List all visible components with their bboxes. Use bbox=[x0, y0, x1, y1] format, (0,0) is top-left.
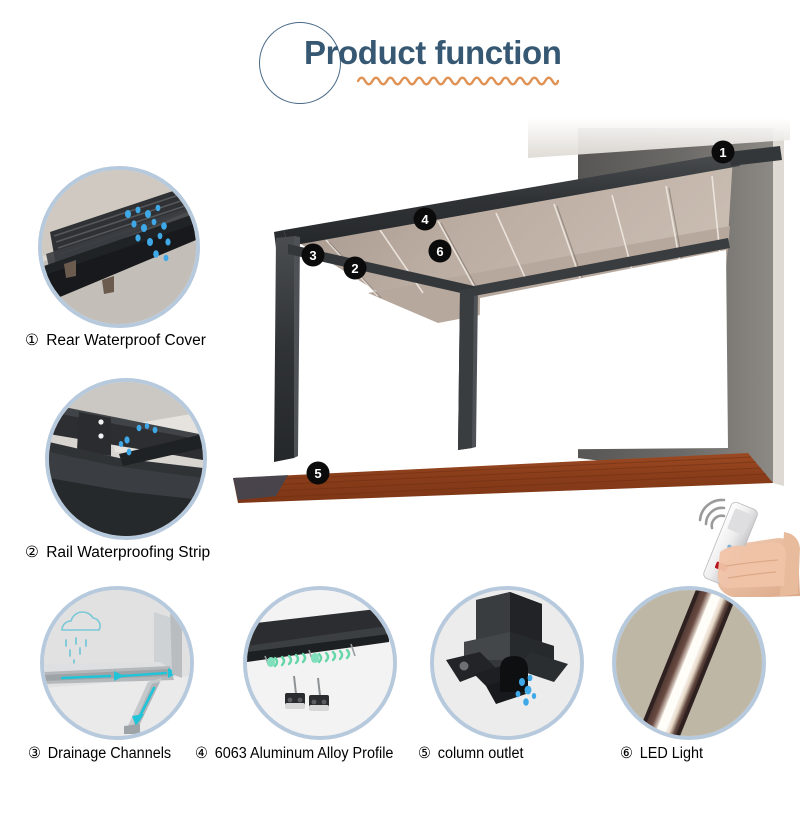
callout-4: 4 bbox=[414, 208, 436, 230]
wifi-signal-icon bbox=[700, 500, 724, 528]
page-header: Product function bbox=[0, 0, 800, 120]
feature-image-drainage-channels bbox=[40, 586, 194, 740]
feature-image-rear-waterproof-cover bbox=[38, 166, 200, 328]
page-title: Product function bbox=[304, 34, 562, 72]
feature-number-1: ① bbox=[25, 332, 39, 349]
feature-image-aluminum-alloy-profile bbox=[243, 586, 397, 740]
callout-5: 5 bbox=[307, 462, 329, 484]
feature-label-rear-waterproof-cover: ① Rear Waterproof Cover bbox=[25, 331, 206, 350]
feature-column-outlet: ⑤ column outlet bbox=[430, 586, 584, 776]
feature-number-5: ⑤ bbox=[418, 745, 431, 762]
feature-label-text-3: Drainage Channels bbox=[48, 745, 171, 762]
wavy-underline-icon bbox=[357, 72, 559, 90]
callout-3: 3 bbox=[302, 244, 324, 266]
callout-1: 1 bbox=[712, 141, 734, 163]
feature-led-light: ⑥ LED Light bbox=[612, 586, 766, 776]
pergola-illustration bbox=[228, 118, 790, 503]
feature-number-3: ③ bbox=[28, 745, 41, 762]
feature-label-text-4: 6063 Aluminum Alloy Profile bbox=[215, 745, 394, 762]
feature-label-rail-waterproofing-strip: ② Rail Waterproofing Strip bbox=[25, 543, 210, 562]
feature-label-drainage-channels: ③ Drainage Channels bbox=[28, 744, 171, 763]
feature-label-text-6: LED Light bbox=[640, 745, 703, 762]
feature-number-4: ④ bbox=[195, 745, 208, 762]
callout-6: 6 bbox=[429, 240, 451, 262]
feature-label-column-outlet: ⑤ column outlet bbox=[418, 744, 523, 763]
feature-label-text-1: Rear Waterproof Cover bbox=[46, 332, 206, 349]
feature-number-6: ⑥ bbox=[620, 745, 633, 762]
feature-image-column-outlet bbox=[430, 586, 584, 740]
feature-label-led-light: ⑥ LED Light bbox=[620, 744, 703, 763]
feature-label-text-5: column outlet bbox=[438, 745, 524, 762]
feature-rail-waterproofing-strip: ② Rail Waterproofing Strip bbox=[45, 378, 207, 578]
feature-number-2: ② bbox=[25, 544, 39, 561]
feature-label-text-2: Rail Waterproofing Strip bbox=[46, 544, 210, 561]
feature-rear-waterproof-cover: ① Rear Waterproof Cover bbox=[38, 166, 200, 366]
callout-2: 2 bbox=[344, 257, 366, 279]
feature-image-led-light bbox=[612, 586, 766, 740]
feature-drainage-channels: ③ Drainage Channels bbox=[40, 586, 194, 776]
feature-label-aluminum-alloy-profile: ④ 6063 Aluminum Alloy Profile bbox=[195, 744, 393, 763]
feature-aluminum-alloy-profile: ④ 6063 Aluminum Alloy Profile bbox=[243, 586, 397, 776]
remote-control-in-hand bbox=[676, 492, 800, 597]
infographic-canvas: Product function bbox=[0, 0, 800, 813]
feature-image-rail-waterproofing-strip bbox=[45, 378, 207, 540]
